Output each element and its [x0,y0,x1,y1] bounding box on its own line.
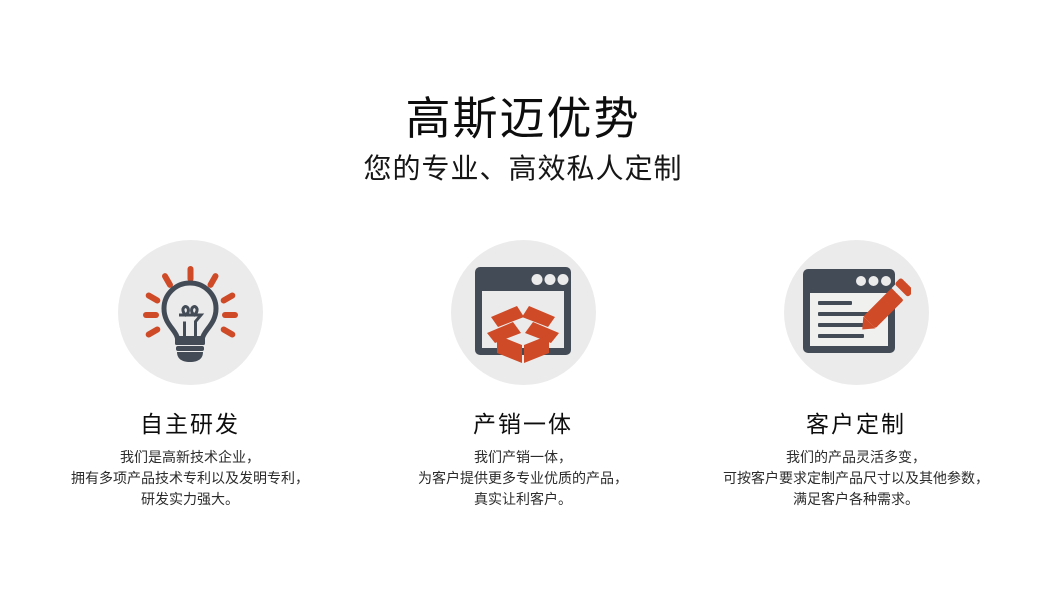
feature-list: 自主研发 我们是高新技术企业， 拥有多项产品技术专利以及发明专利， 研发实力强大… [0,240,1046,510]
slide-root: 高斯迈优势 您的专业、高效私人定制 [0,0,1046,589]
browser-pencil-edit-icon [801,263,911,363]
feature-item-self-research[interactable]: 自主研发 我们是高新技术企业， 拥有多项产品技术专利以及发明专利， 研发实力强大… [30,240,350,510]
feature-title: 客户定制 [806,411,906,439]
feature-description: 我们的产品灵活多变， 可按客户要求定制产品尺寸以及其他参数， 满足客户各种需求。 [723,447,989,510]
feature-item-production-sales[interactable]: 产销一体 我们产销一体， 为客户提供更多专业优质的产品， 真实让利客户。 [363,240,683,510]
feature-title: 自主研发 [140,411,240,439]
page-title: 高斯迈优势 [0,92,1046,146]
icon-circle-1 [118,240,263,385]
icon-circle-2 [451,240,596,385]
browser-open-box-icon [471,263,575,363]
heading-block: 高斯迈优势 您的专业、高效私人定制 [0,92,1046,188]
feature-title: 产销一体 [473,411,573,439]
icon-circle-3 [784,240,929,385]
feature-description: 我们产销一体， 为客户提供更多专业优质的产品， 真实让利客户。 [418,447,628,510]
page-subtitle: 您的专业、高效私人定制 [0,152,1046,188]
feature-description: 我们是高新技术企业， 拥有多项产品技术专利以及发明专利， 研发实力强大。 [71,447,309,510]
feature-item-customization[interactable]: 客户定制 我们的产品灵活多变， 可按客户要求定制产品尺寸以及其他参数， 满足客户… [696,240,1016,510]
lightbulb-icon [135,258,245,368]
